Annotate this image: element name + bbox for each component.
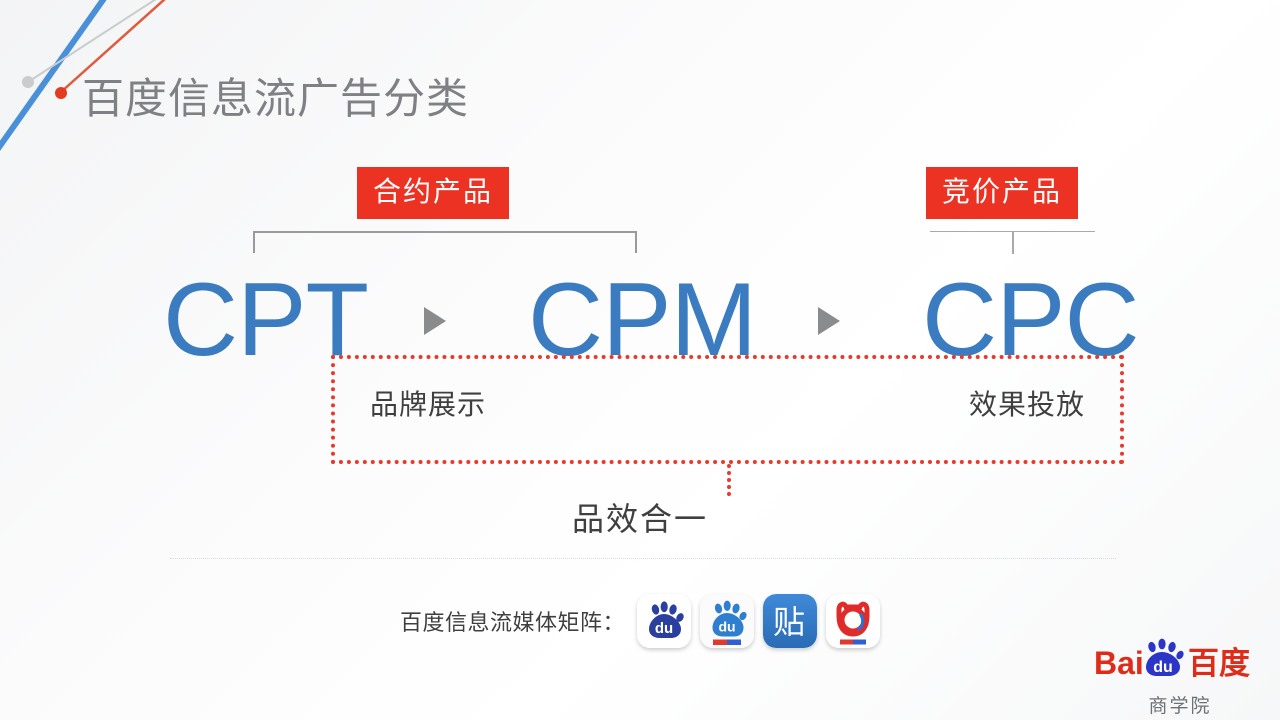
arrow-right-icon-2 bbox=[818, 307, 840, 335]
bracket-contract-products bbox=[253, 231, 637, 253]
section-divider bbox=[170, 558, 1116, 559]
tag-auction-products: 竞价产品 bbox=[926, 167, 1078, 219]
highlight-box-stem bbox=[727, 464, 731, 496]
highlight-label-brand: 品牌展示 bbox=[370, 391, 486, 419]
svg-text:du: du bbox=[655, 620, 673, 637]
deco-gray-dot bbox=[22, 76, 34, 88]
baidu-logo-mark: Bai du 百度 bbox=[1090, 636, 1270, 690]
baidu-tieba-app-icon[interactable]: 贴 bbox=[763, 594, 817, 648]
highlight-box: 品牌展示 效果投放 bbox=[331, 355, 1124, 464]
deco-red-dot bbox=[55, 87, 67, 99]
page-title: 百度信息流广告分类 bbox=[82, 78, 469, 120]
tieba-glyph: 贴 bbox=[773, 604, 805, 640]
highlight-label-performance: 效果投放 bbox=[969, 391, 1085, 419]
tag-contract-products: 合约产品 bbox=[357, 167, 509, 219]
baidu-logo-bai: Bai bbox=[1094, 645, 1144, 681]
connector-auction-products-stem bbox=[1012, 231, 1014, 254]
footer-brand-logo: Bai du 百度 商学院 bbox=[1090, 636, 1270, 714]
media-matrix-icons: du du bbox=[637, 594, 880, 648]
unified-caption: 品效合一 bbox=[0, 500, 1280, 538]
media-matrix-row: 百度信息流媒体矩阵： du bbox=[0, 592, 1280, 650]
deco-gray-line bbox=[28, 0, 170, 82]
baidu-paw-app-icon[interactable]: du bbox=[637, 594, 691, 648]
baidu-mobile-app-icon[interactable]: du bbox=[700, 594, 754, 648]
baidu-logo-du: du bbox=[1153, 659, 1173, 676]
baidu-logo-cn: 百度 bbox=[1188, 646, 1250, 681]
svg-text:du: du bbox=[718, 619, 735, 635]
baidu-browser-app-icon[interactable] bbox=[826, 594, 880, 648]
arrow-right-icon-1 bbox=[424, 307, 446, 335]
slide-canvas: 百度信息流广告分类 合约产品 竞价产品 CPT CPM CPC 品牌展示 效果投… bbox=[0, 0, 1280, 720]
media-matrix-label: 百度信息流媒体矩阵： bbox=[400, 605, 625, 637]
footer-sub-label: 商学院 bbox=[1090, 691, 1270, 718]
